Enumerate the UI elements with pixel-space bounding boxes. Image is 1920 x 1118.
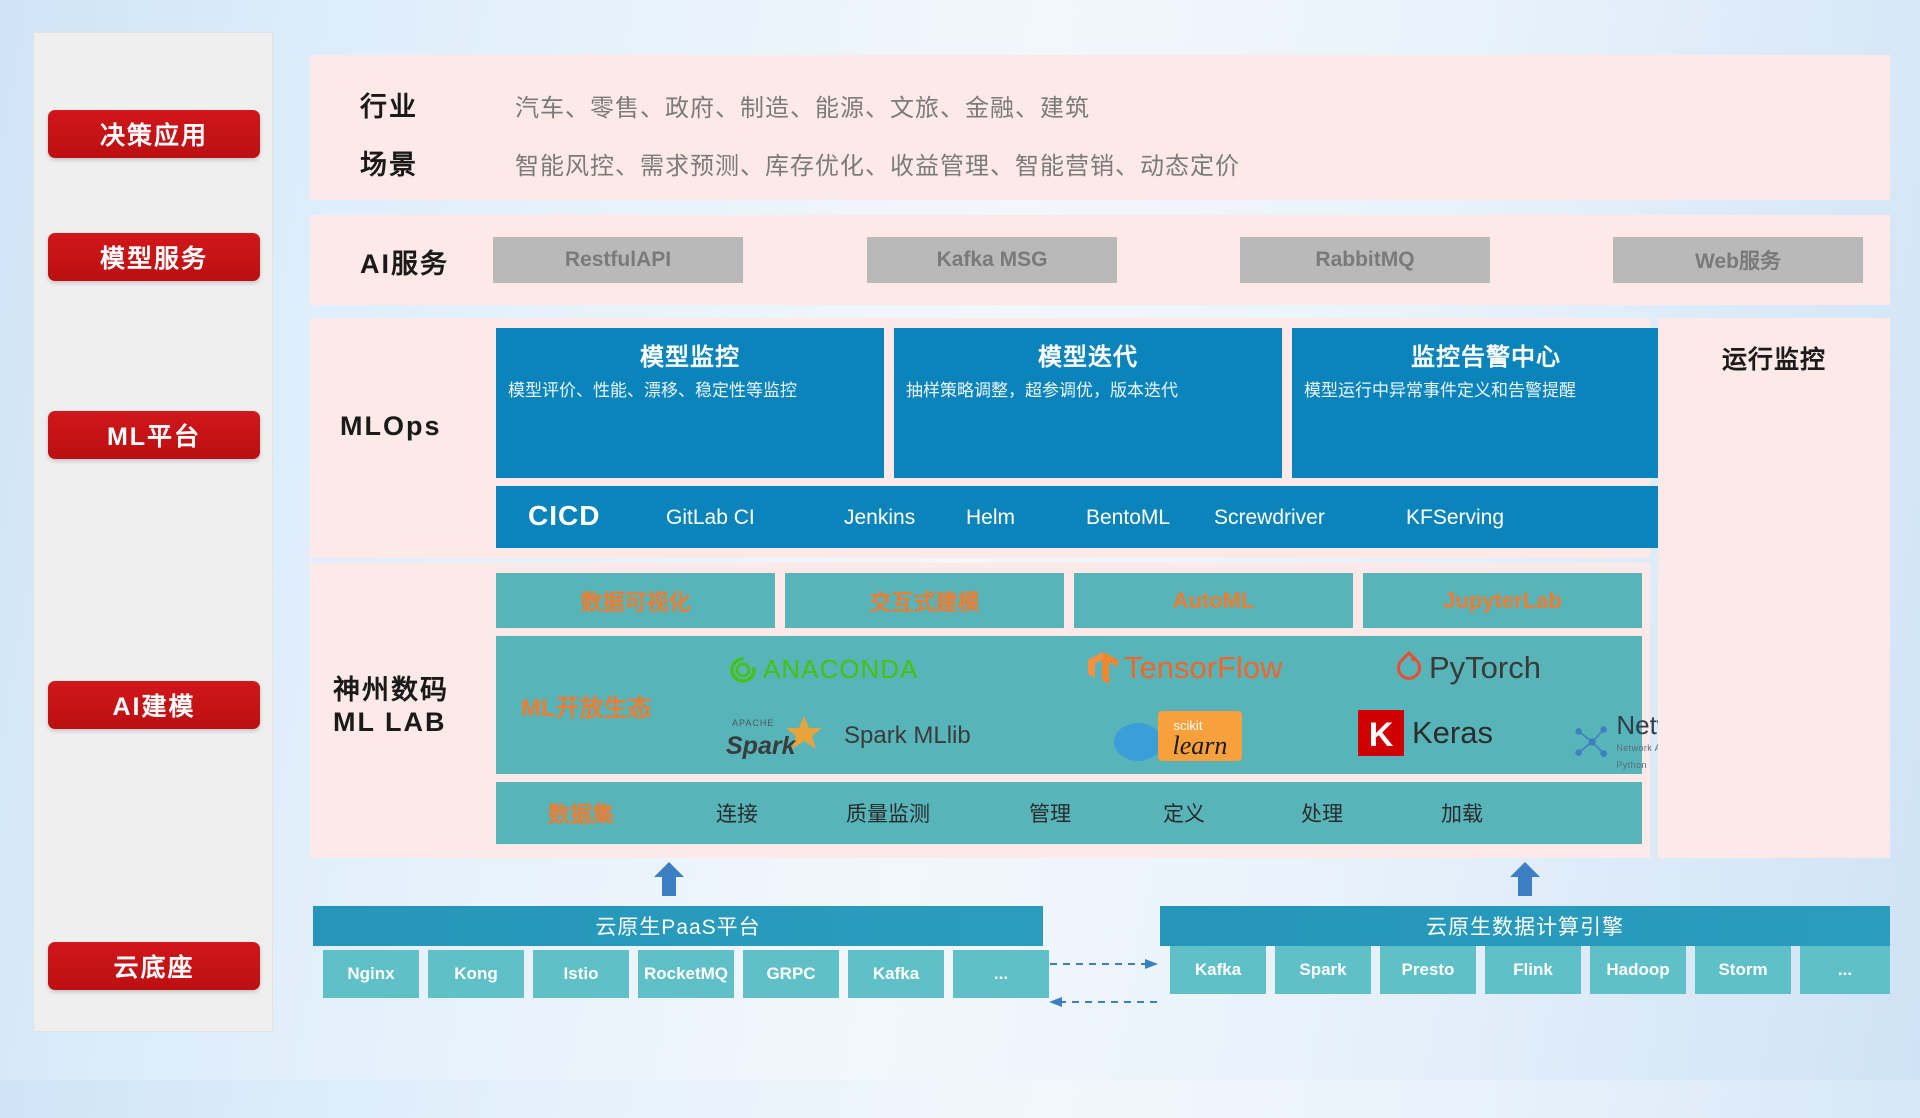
tech-chip-more-right[interactable]: ... xyxy=(1800,946,1890,994)
cicd-item-kfserving[interactable]: KFServing xyxy=(1406,506,1516,530)
svg-text:Spark: Spark xyxy=(726,732,797,760)
ai-service-label: AI服务 xyxy=(360,242,449,281)
cicd-item-jenkins[interactable]: Jenkins xyxy=(844,506,922,530)
svg-text:K: K xyxy=(1369,716,1394,754)
tech-chip-hadoop[interactable]: Hadoop xyxy=(1590,946,1686,994)
tech-chip-storm[interactable]: Storm xyxy=(1695,946,1791,994)
tech-chip-nginx[interactable]: Nginx xyxy=(323,950,419,998)
card-title: 模型监控 xyxy=(496,328,884,372)
dataset-label: 数据集 xyxy=(548,797,614,829)
tool-label: AutoML xyxy=(1074,573,1353,628)
card-title: 模型迭代 xyxy=(894,328,1282,372)
tool-chip-data-visualization[interactable]: 数据可视化 xyxy=(496,573,775,628)
stage-rail xyxy=(33,32,273,1032)
tech-chip-istio[interactable]: Istio xyxy=(533,950,629,998)
tech-chip-flink[interactable]: Flink xyxy=(1485,946,1581,994)
stage-chip-ai-modeling[interactable]: AI建模 xyxy=(48,681,260,729)
monitoring-title: 运行监控 xyxy=(1658,340,1890,376)
industry-label: 行业 xyxy=(360,85,418,124)
cicd-item-bentoml[interactable]: BentoML xyxy=(1086,506,1174,530)
logo-keras: K Keras xyxy=(1358,710,1493,756)
ml-lab-label-line2: ML LAB xyxy=(333,707,449,738)
card-title: 监控告警中心 xyxy=(1292,328,1680,372)
scenario-label: 场景 xyxy=(360,143,418,182)
ml-ecosystem-band: ML开放生态 ANACONDA TensorFlow P xyxy=(496,636,1642,774)
logo-spark-mllib: APACHE Spark Spark MLlib xyxy=(724,710,971,762)
application-layer-panel: 行业 汽车、零售、政府、制造、能源、文旅、金融、建筑 场景 智能风控、需求预测、… xyxy=(310,55,1890,200)
cicd-bar[interactable]: CICD GitLab CI Jenkins Helm BentoML Scre… xyxy=(496,486,1680,548)
dataset-item-quality[interactable]: 质量监测 xyxy=(846,798,930,828)
stage-chip-model-service[interactable]: 模型服务 xyxy=(48,233,260,281)
cicd-item-helm[interactable]: Helm xyxy=(966,506,1056,530)
logo-label: PyTorch xyxy=(1429,650,1541,686)
dataset-item-process[interactable]: 处理 xyxy=(1301,798,1343,828)
dashed-connector xyxy=(1046,948,1161,1018)
ml-lab-panel: 神州数码 ML LAB 数据可视化 交互式建模 AutoML JupyterLa… xyxy=(310,563,1650,858)
stage-chip-cloud-base[interactable]: 云底座 xyxy=(48,942,260,990)
mlops-card-model-iteration[interactable]: 模型迭代 抽样策略调整，超参调优，版本迭代 xyxy=(894,328,1282,478)
service-chip-restfulapi[interactable]: RestfulAPI xyxy=(493,237,743,283)
service-chip-web-service[interactable]: Web服务 xyxy=(1613,237,1863,283)
service-chip-kafka-msg[interactable]: Kafka MSG xyxy=(867,237,1117,283)
ecosystem-label: ML开放生态 xyxy=(521,688,652,723)
tech-chip-kafka-left[interactable]: Kafka xyxy=(848,950,944,998)
dataset-item-define[interactable]: 定义 xyxy=(1163,798,1205,828)
logo-anaconda: ANACONDA xyxy=(728,654,918,685)
logo-scikit-learn: scikit learn xyxy=(1108,708,1278,764)
scenario-value: 智能风控、需求预测、库存优化、收益管理、智能营销、动态定价 xyxy=(515,146,1240,181)
tool-chip-automl[interactable]: AutoML xyxy=(1074,573,1353,628)
stage-chip-ml-platform[interactable]: ML平台 xyxy=(48,411,260,459)
engine-bar-title[interactable]: 云原生数据计算引擎 xyxy=(1160,906,1890,946)
tool-label: 交互式建模 xyxy=(785,573,1064,628)
mlops-card-model-monitoring[interactable]: 模型监控 模型评价、性能、漂移、稳定性等监控 xyxy=(496,328,884,478)
mlops-label: MLOps xyxy=(340,411,442,442)
arrow-up-icon-engine xyxy=(1508,862,1542,896)
stage-chip-decision[interactable]: 决策应用 xyxy=(48,110,260,158)
tool-label: JupyterLab xyxy=(1363,573,1642,628)
card-desc: 模型运行中异常事件定义和告警提醒 xyxy=(1292,372,1680,403)
card-desc: 模型评价、性能、漂移、稳定性等监控 xyxy=(496,372,884,403)
tech-chip-rocketmq[interactable]: RocketMQ xyxy=(638,950,734,998)
ai-service-panel: AI服务 RestfulAPI Kafka MSG RabbitMQ Web服务 xyxy=(310,215,1890,305)
monitoring-panel: 运行监控 权限管理 账户、角色、用户组等管理 资源监控 POD运行监控，K8S资… xyxy=(1658,318,1890,858)
tool-label: 数据可视化 xyxy=(496,573,775,628)
cicd-item-gitlab-ci[interactable]: GitLab CI xyxy=(666,506,796,530)
tech-chip-spark[interactable]: Spark xyxy=(1275,946,1371,994)
logo-label: ANACONDA xyxy=(763,654,918,685)
paas-bar-title[interactable]: 云原生PaaS平台 xyxy=(313,906,1043,946)
dataset-row[interactable]: 数据集 连接 质量监测 管理 定义 处理 加载 xyxy=(496,782,1642,844)
svg-text:APACHE: APACHE xyxy=(732,718,774,728)
logo-pytorch: PyTorch xyxy=(1394,650,1541,686)
tech-chip-grpc[interactable]: GRPC xyxy=(743,950,839,998)
service-chip-rabbitmq[interactable]: RabbitMQ xyxy=(1240,237,1490,283)
tool-chip-interactive-modeling[interactable]: 交互式建模 xyxy=(785,573,1064,628)
tech-chip-kong[interactable]: Kong xyxy=(428,950,524,998)
tool-chip-jupyterlab[interactable]: JupyterLab xyxy=(1363,573,1642,628)
mlops-panel: MLOps 模型监控 模型评价、性能、漂移、稳定性等监控 模型迭代 抽样策略调整… xyxy=(310,318,1650,558)
card-desc: 抽样策略调整，超参调优，版本迭代 xyxy=(894,372,1282,403)
tech-chip-more-left[interactable]: ... xyxy=(953,950,1049,998)
dataset-item-manage[interactable]: 管理 xyxy=(1029,798,1071,828)
industry-value: 汽车、零售、政府、制造、能源、文旅、金融、建筑 xyxy=(515,88,1090,123)
mlops-card-alert-center[interactable]: 监控告警中心 模型运行中异常事件定义和告警提醒 xyxy=(1292,328,1680,478)
cicd-label: CICD xyxy=(528,500,600,532)
arrow-up-icon-paas xyxy=(652,862,686,896)
logo-label: TensorFlow xyxy=(1124,650,1283,686)
ml-lab-label-line1: 神州数码 xyxy=(333,668,449,707)
tech-chip-kafka-right[interactable]: Kafka xyxy=(1170,946,1266,994)
dataset-item-load[interactable]: 加载 xyxy=(1441,798,1483,828)
ml-lab-label: 神州数码 ML LAB xyxy=(333,668,449,738)
logo-tensorflow: TensorFlow xyxy=(1086,650,1283,686)
dataset-item-connect[interactable]: 连接 xyxy=(716,798,758,828)
tech-chip-presto[interactable]: Presto xyxy=(1380,946,1476,994)
cicd-item-screwdriver[interactable]: Screwdriver xyxy=(1214,506,1324,530)
logo-label: Spark MLlib xyxy=(844,722,971,750)
svg-text:learn: learn xyxy=(1173,731,1228,760)
logo-label: Keras xyxy=(1412,715,1493,751)
